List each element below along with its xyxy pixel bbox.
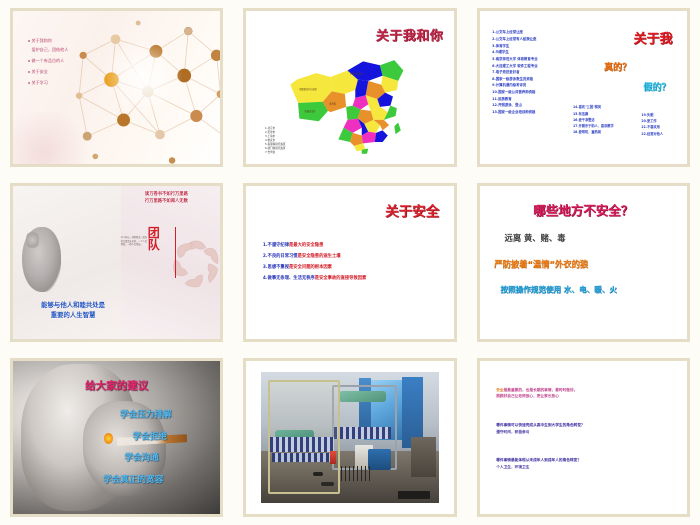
list-column-b: 14.喜欢"三国"棋类 15.有洁癖 16.爱干净整洁 17.开朗乐于助人、喜欢… — [573, 104, 614, 135]
drying-rack — [341, 466, 370, 480]
slide-cell-2[interactable]: 关于我和你 — [233, 0, 466, 175]
list-column-a: 1.公交车上经常让座 2.公交车上经常有人给我让座 3.体育学生 4.রি理学生… — [492, 29, 538, 115]
slide-cell-8[interactable] — [233, 350, 466, 525]
slide-8-dorm-photo[interactable] — [243, 358, 456, 517]
list-item: 13.国家一级企业培训师资格 — [492, 109, 538, 116]
list-item: 6.大连理工大学 软件工程专业 — [492, 63, 538, 70]
advice-line-4: 学会真正的宽容 — [13, 473, 220, 485]
advice-line-1: 学会压力排解 — [13, 408, 220, 420]
slide-cell-4[interactable]: 读万卷书不如行万里路 行万里路不如阅人无数 众人同心，其利断金。团队的力量是无穷… — [0, 175, 233, 350]
top-line-2: 行万里路不如阅人无数 — [113, 199, 221, 205]
molecule-network-graphic — [67, 11, 220, 164]
list-item: 2.公交车上经常有人给我让座 — [492, 36, 538, 43]
slide-9-questions[interactable]: 安全是最重要的，也是长期的事情，要时时做好。 照顾好自己让老师放心，更让家长放心… — [477, 358, 690, 517]
bullet-dot-icon — [28, 71, 30, 73]
team-word: 团 队 — [148, 227, 161, 251]
slide-1-network[interactable]: 关于我和你 爱护自己，团结他人 做一个有品位的人 关于安全 关于学习 — [10, 8, 223, 167]
hamster-graphic — [22, 227, 61, 291]
bottom-line-2: 重要的人生智慧 — [19, 311, 127, 321]
block-3-answer: 个人卫生，环境卫生 — [496, 464, 581, 470]
desk — [411, 437, 436, 476]
block-1-line-2: 照顾好自己让老师放心，更让家长放心 — [496, 393, 577, 399]
block-3-question: 哪件事情最能体现从未成年人到成年人的角色转变？ — [496, 457, 581, 463]
team-char-2: 队 — [148, 239, 161, 251]
list-item: 8.国家一级游泳救生员资格 — [492, 76, 538, 83]
svg-text:西藏自治区: 西藏自治区 — [304, 109, 316, 113]
list-item: 7.电子竞技爱好者 — [492, 69, 538, 76]
slide-cell-1[interactable]: 关于我和你 爱护自己，团结他人 做一个有品位的人 关于安全 关于学习 — [0, 0, 233, 175]
mattress-right — [334, 427, 391, 439]
shoe-2 — [313, 472, 324, 476]
hands-circle-graphic — [171, 201, 221, 326]
bottom-line-1: 能够与他人和睦共处是 — [19, 301, 127, 311]
slide-2-china-map[interactable]: 关于我和你 — [243, 8, 456, 167]
bullet-dot-icon — [28, 60, 30, 62]
team-description: 众人同心，其利断金。团队的力量是无穷的，一个人走得快，一群人走得远。 — [121, 236, 148, 246]
list-item: 1.公交车上经常让座 — [492, 29, 538, 36]
red-bottle — [330, 451, 335, 464]
bullet-item-5: 关于学习 — [28, 79, 69, 87]
bullet-item-1: 关于我和你 — [28, 37, 69, 45]
bedding-right-top — [339, 391, 385, 402]
china-map-graphic: 新疆维吾尔自治区 西藏自治区 青海省 内蒙古自治区 — [263, 51, 437, 155]
bullet-item-3: 做一个有品位的人 — [28, 57, 69, 65]
bullet-dot-icon — [28, 40, 30, 42]
unsafe-line-3: 按照操作规范使用 水、电、暖、火 — [500, 284, 617, 295]
blue-chair — [368, 449, 391, 470]
mattress-left-upper — [270, 437, 334, 451]
hands-circle-panel — [121, 186, 221, 339]
slide-2-legend: 1.北京市 2.天津市 3.上海市 4.重庆市 5.香港特别行政区 6.澳门特别… — [265, 127, 286, 155]
list-item: 12.开照游泳、登山 — [492, 102, 538, 109]
team-underline — [175, 227, 176, 277]
list-item: 4.রি理学生 — [492, 49, 538, 56]
safety-point: 4.做事无条理、生活无秩序是安全事故的直接导致因素 — [263, 274, 366, 285]
svg-text:青海省: 青海省 — [329, 101, 336, 105]
question-block-1: 安全是最重要的，也是长期的事情，要时时做好。 照顾好自己让老师放心，更让家长放心 — [496, 387, 577, 400]
list-item: 11.民族教育 — [492, 96, 538, 103]
list-column-c: 19.失眠 20.爱工作 21.不喜欢用 22.经常对他人 — [641, 112, 663, 137]
slide-cell-3[interactable]: 关于我 真的？ 假的？ 1.公交车上经常让座 2.公交车上经常有人给我让座 3.… — [467, 0, 700, 175]
shoe-1 — [321, 482, 333, 486]
safety-point: 1.不遵守纪律是最大的安全隐患 — [263, 241, 366, 252]
slide-5-about-safety[interactable]: 关于安全 1.不遵守纪律是最大的安全隐患 2.不良的日常习惯是安全隐患的滋生土壤… — [243, 183, 456, 342]
svg-text:新疆维吾尔自治区: 新疆维吾尔自治区 — [299, 87, 317, 91]
list-item: 22.经常对他人 — [641, 131, 663, 137]
slide-6-unsafe-places[interactable]: 哪些地方不安全？ 远离 黄、赌、毒 严防披着“温情”外衣的狼 按照操作规范使用 … — [477, 183, 690, 342]
question-block-2: 哪件事情可以快速完成从高中生到大学生的角色转变？ 遵守时间，积极参与 — [496, 422, 585, 435]
list-item: 9.计算机通内级考评员 — [492, 82, 538, 89]
list-item: 3.体育学生 — [492, 43, 538, 50]
list-item: 21.不喜欢用 — [641, 124, 663, 130]
unsafe-line-2: 严防披着“温情”外衣的狼 — [494, 258, 588, 270]
team-top-lines: 读万卷书不如行万里路 行万里路不如阅人无数 — [113, 192, 221, 205]
legend-item: 7.台湾省 — [265, 151, 286, 155]
bullet-item-4: 关于安全 — [28, 68, 69, 76]
slide-cell-9[interactable]: 安全是最重要的，也是长期的事情，要时时做好。 照顾好自己让老师放心，更让家长放心… — [467, 350, 700, 525]
unsafe-line-1: 远离 黄、赌、毒 — [505, 232, 566, 244]
list-item: 18.爱唠叨、重热闹 — [573, 129, 614, 135]
slide-7-title: 给大家的建议 — [85, 378, 148, 393]
safety-points-list: 1.不遵守纪律是最大的安全隐患 2.不良的日常习惯是安全隐患的滋生土壤 3.思想… — [263, 241, 366, 285]
bullet-item-2: 爱护自己，团结他人 — [28, 46, 69, 54]
slide-4-team[interactable]: 读万卷书不如行万里路 行万里路不如阅人无数 众人同心，其利断金。团队的力量是无穷… — [10, 183, 223, 342]
highlight-word: 安全 — [496, 388, 503, 392]
slide-thumbnail-grid: 关于我和你 爱护自己，团结他人 做一个有品位的人 关于安全 关于学习 关于我和你 — [0, 0, 700, 525]
slide-2-title: 关于我和你 — [376, 25, 444, 44]
false-label: 假的？ — [643, 80, 670, 93]
mattress-left-lower — [272, 453, 333, 462]
advice-line-2: 学会拒绝 — [13, 430, 220, 442]
safety-point: 2.不良的日常习惯是安全隐患的滋生土壤 — [263, 252, 366, 263]
slide-5-title: 关于安全 — [385, 200, 439, 220]
bullet-dot-icon — [28, 82, 30, 84]
svg-text:内蒙古自治区: 内蒙古自治区 — [350, 71, 364, 75]
advice-line-3: 学会沟通 — [13, 451, 220, 463]
slide-7-advice[interactable]: 给大家的建议 学会压力排解 学会拒绝 学会沟通 学会真正的宽容 — [10, 358, 223, 517]
list-item: 5.南京师范大学 体育教育专业 — [492, 56, 538, 63]
question-block-3: 哪件事情最能体现从未成年人到成年人的角色转变？ 个人卫生，环境卫生 — [496, 457, 581, 470]
slide-6-title: 哪些地方不安全？ — [533, 200, 633, 219]
dorm-photo — [261, 372, 439, 504]
floor-mat — [398, 491, 430, 499]
block-2-question: 哪件事情可以快速完成从高中生到大学生的角色转变？ — [496, 422, 585, 428]
slide-cell-5[interactable]: 关于安全 1.不遵守纪律是最大的安全隐患 2.不良的日常习惯是安全隐患的滋生土壤… — [233, 175, 466, 350]
team-bottom-lines: 能够与他人和睦共处是 重要的人生智慧 — [19, 301, 127, 320]
slide-cell-7[interactable]: 给大家的建议 学会压力排解 学会拒绝 学会沟通 学会真正的宽容 — [0, 350, 233, 525]
true-label: 真的？ — [604, 60, 631, 73]
safety-point: 3.思想不重视是安全问题的根本因素 — [263, 263, 366, 274]
list-item: 10.国家一级公共营养师资格 — [492, 89, 538, 96]
block-2-answer: 遵守时间，积极参与 — [496, 429, 585, 435]
slide-3-title: 关于我 — [633, 28, 672, 47]
slide-3-true-false[interactable]: 关于我 真的？ 假的？ 1.公交车上经常让座 2.公交车上经常有人给我让座 3.… — [477, 8, 690, 167]
slide-1-bullet-list: 关于我和你 爱护自己，团结他人 做一个有品位的人 关于安全 关于学习 — [28, 37, 69, 90]
slide-cell-6[interactable]: 哪些地方不安全？ 远离 黄、赌、毒 严防披着“温情”外衣的狼 按照操作规范使用 … — [467, 175, 700, 350]
